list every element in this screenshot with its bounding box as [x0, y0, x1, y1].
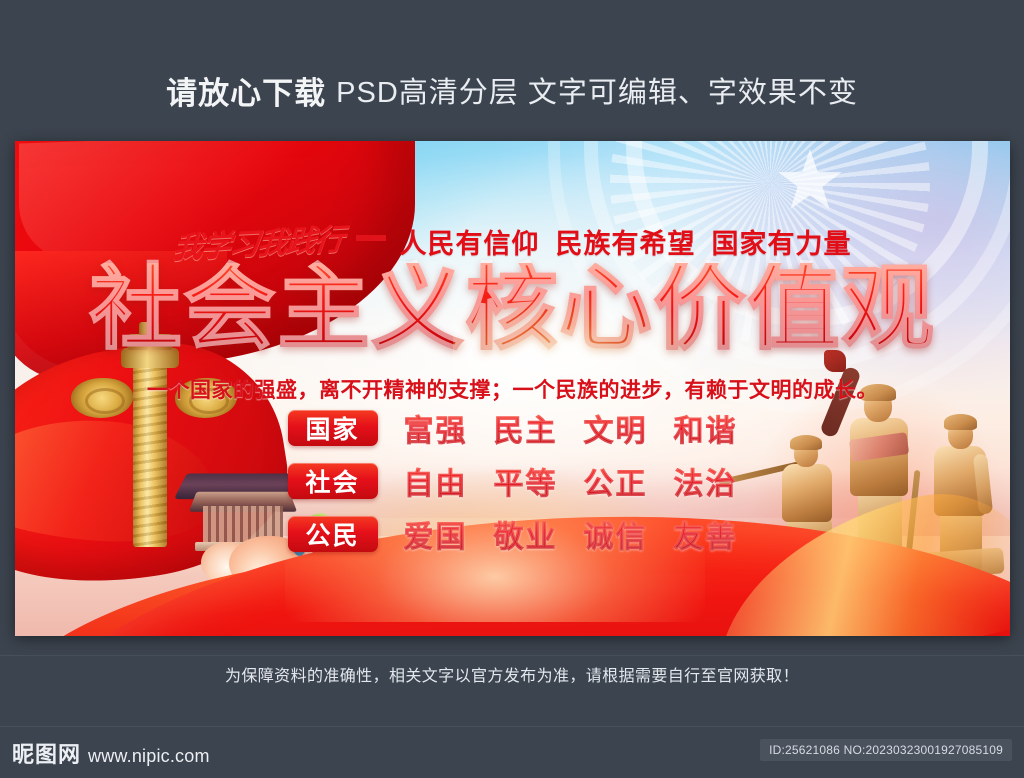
poster-main-title: 社会主义核心价值观 [15, 263, 1010, 355]
value-word: 文明 [584, 406, 648, 450]
value-words-citizen: 爱国 敬业 诚信 友善 [404, 512, 738, 556]
slogan-row: 我学习我践行 人民有信仰民族有希望国家有力量 [15, 219, 1010, 263]
slogan-part-1: 人民有信仰 [400, 229, 540, 259]
value-tag-citizen: 公民 [288, 516, 378, 552]
poster-subtitle: 一个国家的强盛，离不开精神的支撑；一个民族的进步，有赖于文明的成长。 [15, 374, 1010, 404]
asset-id-badge: ID:25621086 NO:20230323001927085109 [760, 739, 1012, 761]
bottom-bar-separator [0, 726, 1024, 727]
value-word: 友善 [674, 512, 738, 556]
value-word: 诚信 [584, 512, 648, 556]
bottom-bar: 昵图网 www.nipic.com ID:25621086 NO:2023032… [0, 726, 1024, 778]
footnote-divider [0, 655, 1024, 656]
value-word: 自由 [404, 459, 468, 503]
slogan-part-2: 民族有希望 [556, 229, 696, 259]
site-logo[interactable]: 昵图网 www.nipic.com [12, 737, 210, 769]
value-word: 富强 [404, 406, 468, 450]
value-word: 法治 [674, 459, 738, 503]
poster-text-layer: 我学习我践行 人民有信仰民族有希望国家有力量 社会主义核心价值观 一个国家的强盛… [15, 141, 1010, 636]
value-row-national: 国家 富强 民主 文明 和谐 [288, 406, 738, 450]
em-dash-rule [356, 235, 386, 241]
value-word: 和谐 [674, 406, 738, 450]
value-tag-social: 社会 [288, 463, 378, 499]
value-word: 爱国 [404, 512, 468, 556]
value-word: 平等 [494, 459, 558, 503]
footnote-text: 为保障资料的准确性，相关文字以官方发布为准，请根据需要自行至官网获取！ [0, 662, 1024, 686]
core-values-list: 国家 富强 民主 文明 和谐 社会 自由 平等 公正 法治 公民 [15, 406, 1010, 556]
value-row-citizen: 公民 爱国 敬业 诚信 友善 [288, 512, 738, 556]
top-banner-light-text: PSD高清分层 文字可编辑、字效果不变 [336, 69, 858, 111]
site-logo-url: www.nipic.com [88, 746, 210, 767]
top-banner: 请放心下载 PSD高清分层 文字可编辑、字效果不变 [0, 62, 1024, 118]
value-words-national: 富强 民主 文明 和谐 [404, 406, 738, 450]
poster-preview-image[interactable]: 我学习我践行 人民有信仰民族有希望国家有力量 社会主义核心价值观 一个国家的强盛… [15, 141, 1010, 636]
value-word: 公正 [584, 459, 648, 503]
value-tag-national: 国家 [288, 410, 378, 446]
site-logo-cn: 昵图网 [12, 737, 81, 769]
value-word: 民主 [494, 406, 558, 450]
value-row-social: 社会 自由 平等 公正 法治 [288, 459, 738, 503]
top-banner-bold-text: 请放心下载 [166, 68, 326, 113]
value-word: 敬业 [494, 512, 558, 556]
value-words-social: 自由 平等 公正 法治 [404, 459, 738, 503]
slogan-text: 人民有信仰民族有希望国家有力量 [400, 222, 852, 261]
slogan-part-3: 国家有力量 [712, 229, 852, 259]
